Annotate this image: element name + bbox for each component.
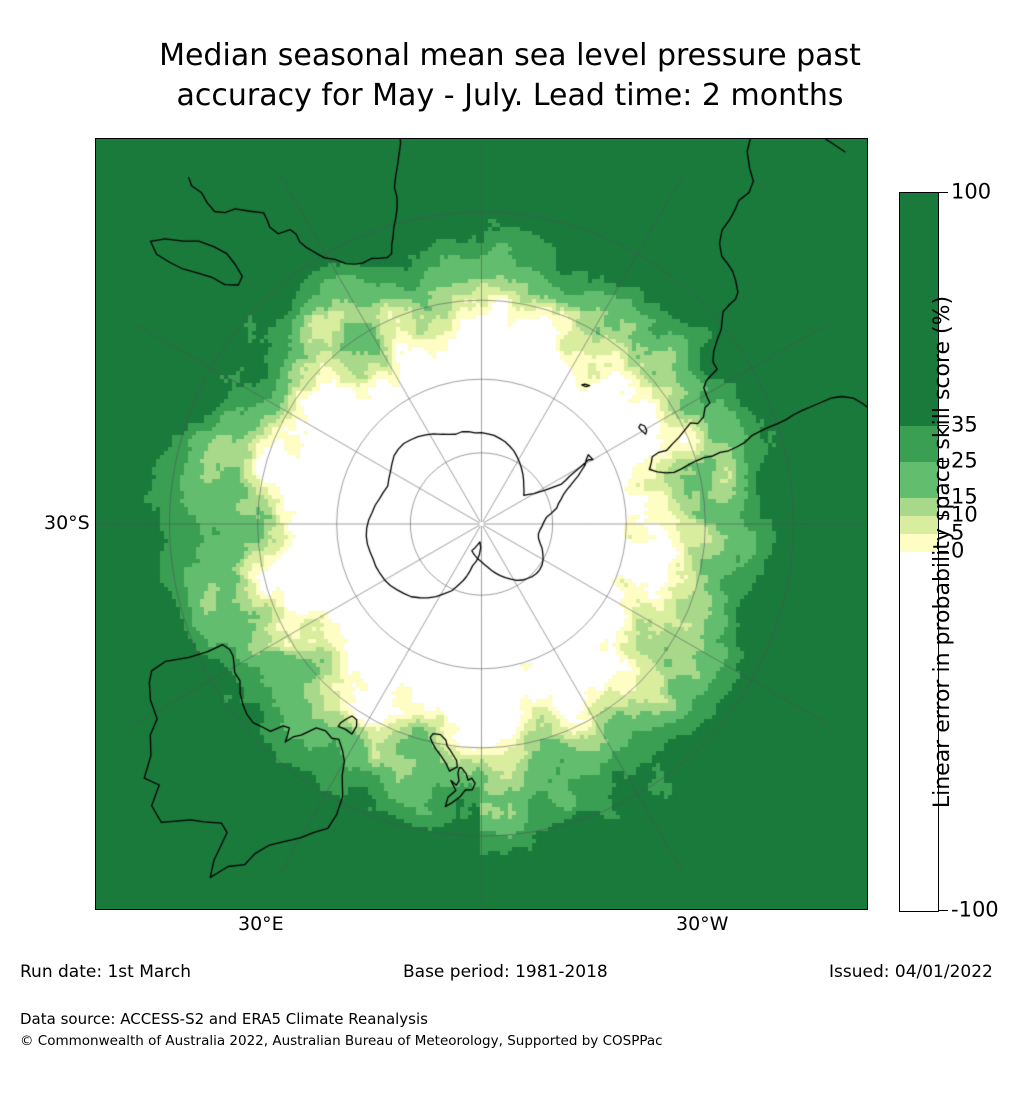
axis-tick-label-30w: 30°W [676, 913, 728, 935]
colorbar-tick-35 [939, 425, 948, 426]
chart-title-line-1: Median seasonal mean sea level pressure … [0, 36, 1020, 76]
map-raster [96, 139, 867, 909]
axis-tick-label-30e: 30°E [238, 913, 284, 935]
footer-base-period: Base period: 1981-2018 [403, 962, 608, 982]
figure-canvas: Median seasonal mean sea level pressure … [0, 0, 1020, 1095]
colorbar-tick-label-25: 25 [951, 451, 978, 472]
colorbar-tick-5 [939, 533, 948, 534]
map-plot-area [95, 138, 868, 910]
axis-tick-label-30s: 30°S [44, 512, 90, 534]
colorbar-tick-25 [939, 461, 948, 462]
footer-run-date: Run date: 1st March [20, 962, 191, 982]
chart-title-line-2: accuracy for May - July. Lead time: 2 mo… [0, 76, 1020, 116]
chart-title: Median seasonal mean sea level pressure … [0, 36, 1020, 116]
colorbar-tick-label--100: -100 [951, 900, 999, 921]
colorbar-tick--100 [939, 910, 948, 911]
colorbar-tick-label-0: 0 [951, 541, 964, 562]
colorbar-tick-0 [939, 551, 948, 552]
footer-data-source: Data source: ACCESS-S2 and ERA5 Climate … [20, 1010, 428, 1028]
colorbar-ticks: 1003525151050-100 [899, 192, 1019, 912]
colorbar-tick-10 [939, 515, 948, 516]
footer-copyright: © Commonwealth of Australia 2022, Austra… [20, 1033, 663, 1049]
colorbar-tick-label-100: 100 [951, 182, 991, 203]
colorbar-tick-100 [939, 192, 948, 193]
colorbar-tick-15 [939, 497, 948, 498]
colorbar-tick-label-35: 35 [951, 415, 978, 436]
footer-issued-date: Issued: 04/01/2022 [829, 962, 993, 982]
